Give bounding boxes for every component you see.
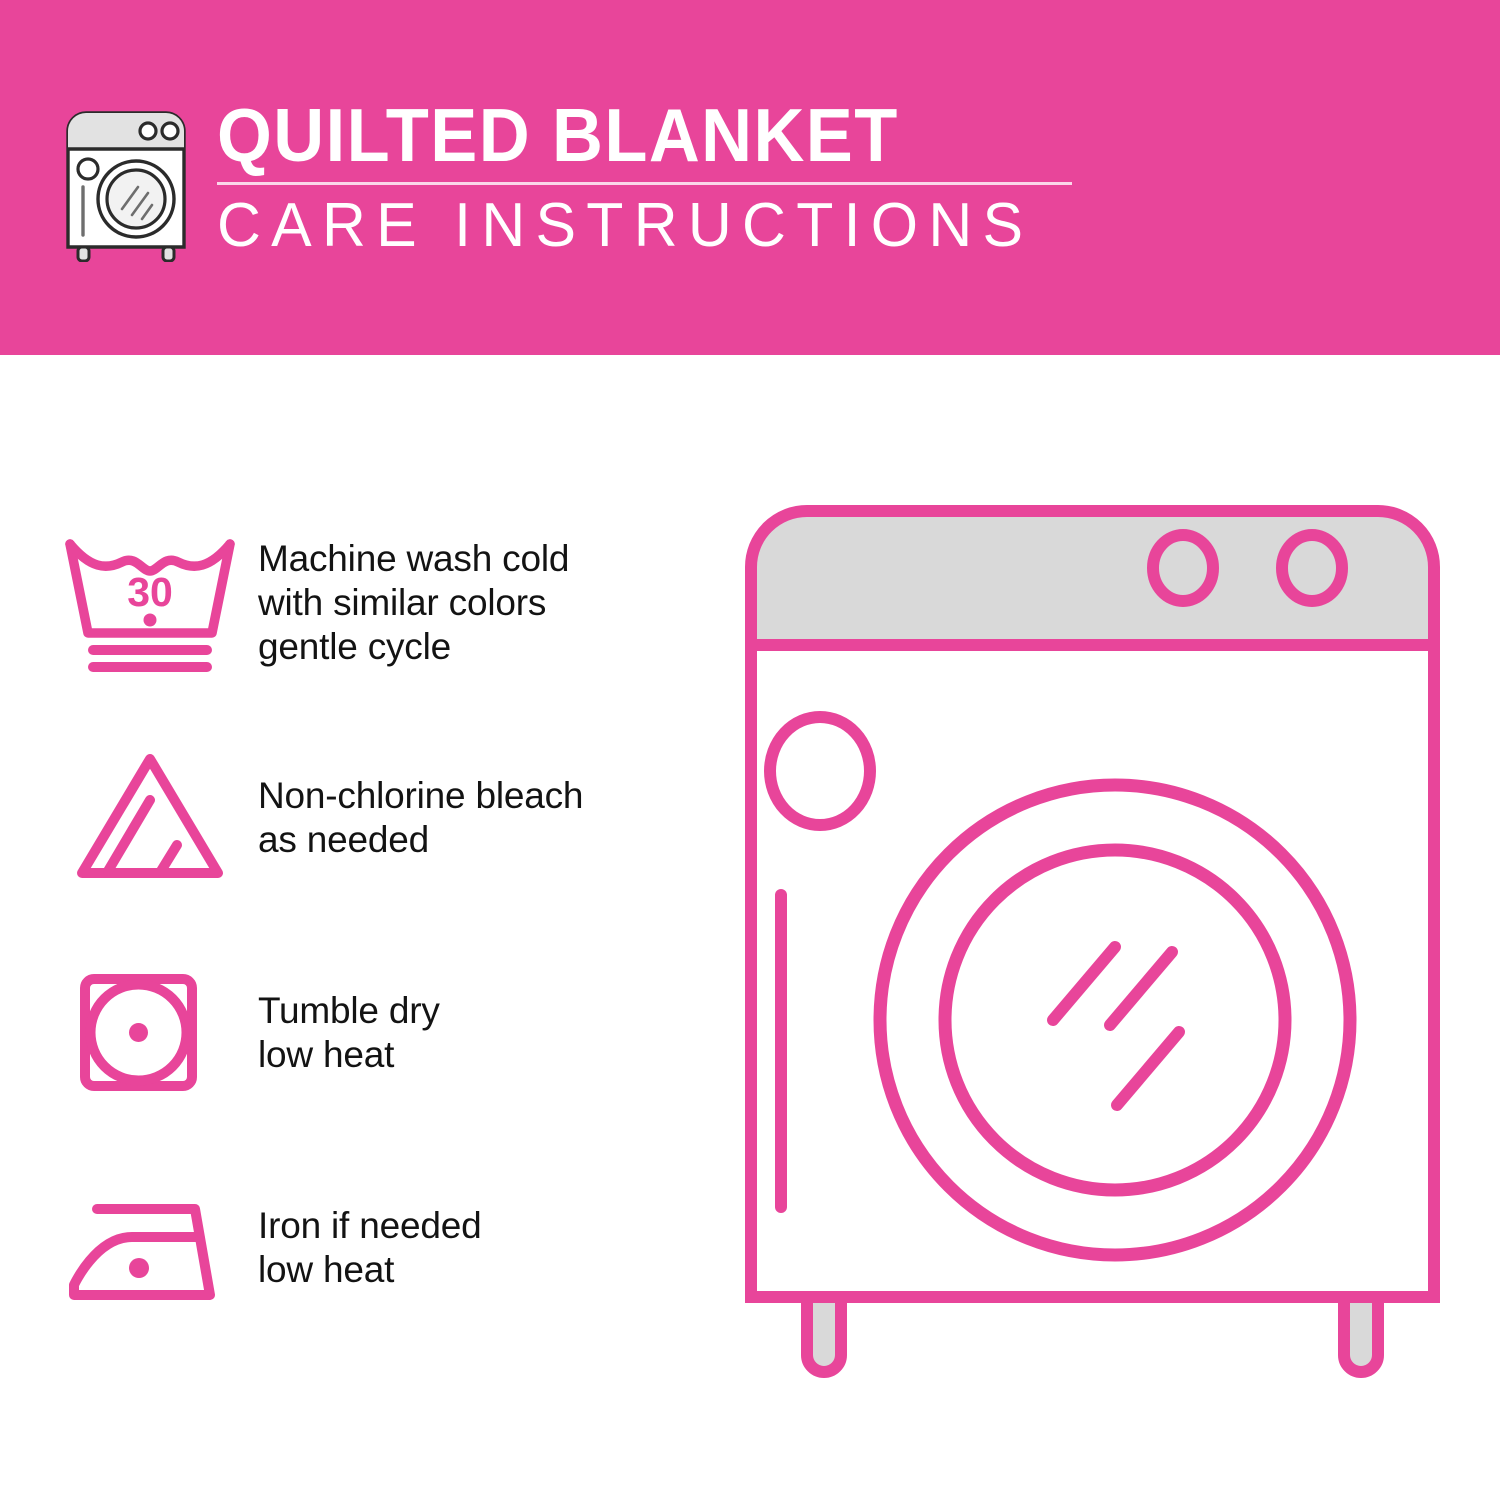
detergent-drawer-circle <box>770 717 870 825</box>
care-row-wash: 30 Machine wash cold with similar colors… <box>60 495 710 710</box>
iron-low-heat-icon <box>60 1175 250 1320</box>
leg-right <box>1344 1297 1378 1372</box>
content-area: 30 Machine wash cold with similar colors… <box>0 355 1500 1500</box>
wash-tub-30-gentle-icon: 30 <box>60 530 250 675</box>
page-subtitle: CARE INSTRUCTIONS <box>217 191 1060 261</box>
care-label-tumble-dry: Tumble dry low heat <box>250 989 440 1077</box>
care-row-iron: Iron if needed low heat <box>60 1140 710 1355</box>
page-title: QUILTED BLANKET <box>217 95 1025 175</box>
care-label-line: with similar colors <box>258 581 569 625</box>
care-label-bleach: Non-chlorine bleach as needed <box>250 774 583 862</box>
washing-machine-icon <box>62 107 190 262</box>
care-label-wash: Machine wash cold with similar colors ge… <box>250 537 569 669</box>
title-divider <box>217 182 1072 185</box>
header-inner: QUILTED BLANKET CARE INSTRUCTIONS <box>62 95 1042 285</box>
care-symbol-list: 30 Machine wash cold with similar colors… <box>60 495 710 1355</box>
care-label-line: gentle cycle <box>258 625 569 669</box>
care-label-line: Iron if needed <box>258 1204 481 1248</box>
tumble-dry-low-icon <box>60 960 250 1105</box>
front-load-washing-machine-illustration <box>735 495 1450 1415</box>
care-row-bleach: Non-chlorine bleach as needed <box>60 710 710 925</box>
header-text-block: QUILTED BLANKET CARE INSTRUCTIONS <box>217 95 1077 261</box>
care-label-line: as needed <box>258 818 583 862</box>
door-shine-lines <box>1053 947 1179 1105</box>
care-row-tumble-dry: Tumble dry low heat <box>60 925 710 1140</box>
care-label-line: low heat <box>258 1033 440 1077</box>
care-label-line: Machine wash cold <box>258 537 569 581</box>
wash-temperature-value: 30 <box>127 569 173 615</box>
care-label-line: Tumble dry <box>258 989 440 1033</box>
header-band: QUILTED BLANKET CARE INSTRUCTIONS <box>0 0 1500 355</box>
leg-left <box>807 1297 841 1372</box>
care-label-iron: Iron if needed low heat <box>250 1204 481 1292</box>
non-chlorine-bleach-triangle-icon <box>60 745 250 890</box>
control-panel <box>751 511 1434 645</box>
care-label-line: low heat <box>258 1248 481 1292</box>
care-label-line: Non-chlorine bleach <box>258 774 583 818</box>
